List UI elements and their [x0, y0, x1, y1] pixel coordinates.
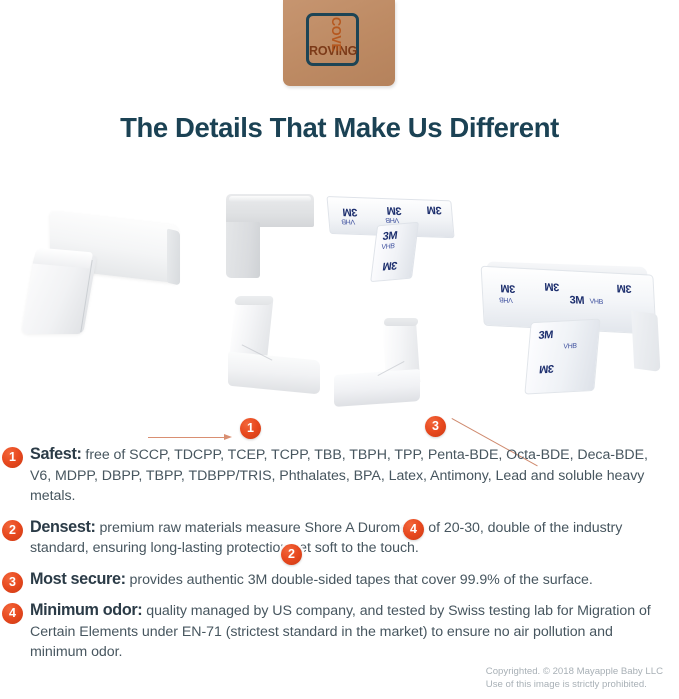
detail-badge-3: 3: [2, 572, 23, 593]
detail-badge-1: 1: [2, 447, 23, 468]
guard-vertical-arm-cap: [383, 318, 418, 326]
detail-text-densest: Densest: premium raw materials measure S…: [30, 517, 657, 559]
product-corner-guard-plain-large: [24, 216, 184, 338]
brand-logo: ROVING COVE: [283, 0, 395, 86]
showcase-badge-2: 2: [281, 544, 302, 565]
tape-brand-subtext: VHB: [499, 296, 513, 304]
copyright-line-2: Use of this image is strictly prohibited…: [486, 679, 663, 692]
guard-tape-vertical-face: 3M VHB 3M: [370, 222, 419, 282]
detail-body-safest: free of SCCP, TDCPP, TCEP, TCPP, TBB, TB…: [30, 447, 648, 504]
detail-badge-2: 2: [2, 520, 23, 541]
tape-brand-mark: 3M: [544, 280, 559, 292]
tape-brand-mark: 3M: [386, 204, 402, 215]
page-title: The Details That Make Us Different: [0, 112, 679, 144]
detail-row-most-secure: 3 Most secure: provides authentic 3M dou…: [0, 569, 679, 591]
detail-body-most-secure: provides authentic 3M double-sided tapes…: [126, 572, 593, 588]
detail-row-safest: 1 Safest: free of SCCP, TDCPP, TCEP, TCP…: [0, 444, 679, 507]
guard-tape-vertical-face: 3M 3M VHB: [524, 319, 600, 395]
tape-brand-subtext: VHB: [381, 243, 395, 251]
tape-brand-subtext: VHB: [385, 216, 399, 223]
tape-brand-mark: 3M: [500, 282, 515, 294]
details-list: 1 Safest: free of SCCP, TDCPP, TCEP, TCP…: [0, 444, 679, 673]
guard-side-segment: [226, 222, 260, 278]
connector-arrowhead-icon: [224, 434, 232, 440]
tape-brand-mark: 3M: [382, 231, 398, 243]
tape-brand-subtext: VHB: [563, 343, 577, 351]
product-corner-guard-4: [332, 318, 430, 408]
tape-brand-subtext: VHB: [341, 217, 355, 224]
detail-body-densest: premium raw materials measure Shore A Du…: [30, 520, 622, 557]
detail-text-safest: Safest: free of SCCP, TDCPP, TCEP, TCPP,…: [30, 444, 657, 507]
tape-brand-mark: 3M: [382, 259, 398, 271]
tape-brand-mark: 3M: [426, 204, 442, 215]
connector-line: [148, 437, 226, 438]
detail-row-densest: 2 Densest: premium raw materials measure…: [0, 517, 679, 559]
detail-badge-4: 4: [2, 603, 23, 624]
showcase-badge-3: 3: [425, 416, 446, 437]
product-corner-guard-taped-large: 3M VHB 3M 3M VHB 3M 3M 3M VHB: [481, 259, 665, 396]
detail-lead-safest: Safest:: [30, 445, 82, 463]
tape-brand-mark: 3M: [539, 362, 554, 374]
tape-brand-mark: 3M: [569, 295, 584, 307]
product-corner-guard-2: [222, 296, 322, 392]
guard-highlight: [229, 196, 311, 202]
product-showcase: 3M VHB 3M VHB 3M 3M VHB 3M 3M VHB 3M 3M …: [0, 168, 679, 430]
detail-text-most-secure: Most secure: provides authentic 3M doubl…: [30, 569, 657, 591]
showcase-badge-1: 1: [240, 418, 261, 439]
product-corner-guard-3-taped: 3M VHB 3M VHB 3M 3M VHB 3M: [326, 185, 459, 284]
detail-text-minimum-odor: Minimum odor: quality managed by US comp…: [30, 600, 657, 663]
detail-lead-densest: Densest:: [30, 518, 96, 536]
detail-lead-minimum-odor: Minimum odor:: [30, 601, 142, 619]
guard-horizontal-arm-end: [167, 228, 180, 285]
tape-brand-mark: 3M: [342, 206, 358, 217]
connector-arrow-plain-to-guard1: [148, 436, 236, 439]
detail-row-minimum-odor: 4 Minimum odor: quality managed by US co…: [0, 600, 679, 663]
showcase-badge-4: 4: [403, 519, 424, 540]
tape-brand-subtext: VHB: [589, 298, 603, 306]
detail-lead-most-secure: Most secure:: [30, 570, 126, 588]
logo-word-cove: COVE: [330, 17, 343, 52]
footer-copyright: Copyrighted. © 2018 Mayapple Baby LLC Us…: [486, 666, 663, 691]
guard-vertical-arm-cap: [234, 296, 274, 305]
copyright-line-1: Copyrighted. © 2018 Mayapple Baby LLC: [486, 666, 663, 679]
guard-horizontal-arm: [228, 352, 320, 395]
tape-brand-mark: 3M: [538, 330, 553, 342]
guard-right-edge: [631, 310, 660, 372]
product-corner-guard-1: [226, 194, 314, 278]
tape-brand-mark: 3M: [617, 282, 632, 294]
